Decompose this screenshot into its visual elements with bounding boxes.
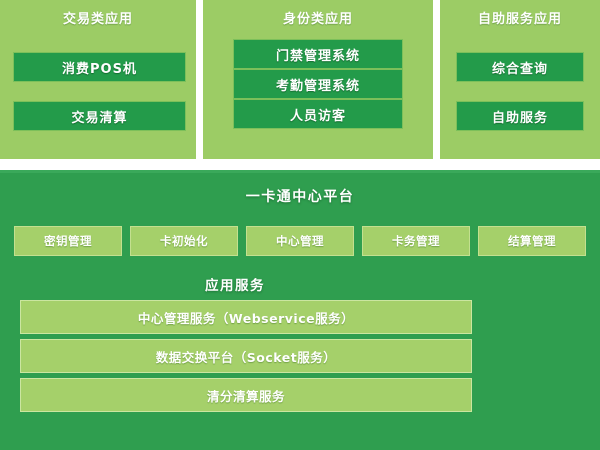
- panel-divider-right: [433, 0, 440, 159]
- application-services-stack: 中心管理服务（Webservice服务） 数据交换平台（Socket服务） 清分…: [20, 300, 472, 417]
- panel-self-service-applications: 自助服务应用 综合查询 自助服务: [440, 0, 600, 159]
- application-services-title: 应用服务: [0, 274, 470, 294]
- panel-title-identity: 身份类应用: [203, 8, 433, 27]
- app-box-attendance-system[interactable]: 考勤管理系统: [233, 69, 403, 99]
- platform-title: 一卡通中心平台: [0, 186, 600, 206]
- panel-identity-applications: 身份类应用 门禁管理系统 考勤管理系统 人员访客: [203, 0, 433, 159]
- service-center-management-webservice[interactable]: 中心管理服务（Webservice服务）: [20, 300, 472, 334]
- app-box-comprehensive-query[interactable]: 综合查询: [456, 52, 584, 82]
- module-card-service-management[interactable]: 卡务管理: [362, 226, 470, 256]
- center-platform-panel: 一卡通中心平台 密钥管理 卡初始化 中心管理 卡务管理 结算管理 应用服务 中心…: [0, 170, 600, 450]
- service-data-exchange-socket[interactable]: 数据交换平台（Socket服务）: [20, 339, 472, 373]
- platform-module-row: 密钥管理 卡初始化 中心管理 卡务管理 结算管理: [10, 226, 590, 256]
- panel-title-self-service: 自助服务应用: [440, 8, 600, 27]
- panel-title-transaction: 交易类应用: [0, 8, 196, 27]
- module-center-management[interactable]: 中心管理: [246, 226, 354, 256]
- app-box-transaction-settlement[interactable]: 交易清算: [13, 101, 186, 131]
- module-card-initialization[interactable]: 卡初始化: [130, 226, 238, 256]
- app-box-self-service[interactable]: 自助服务: [456, 101, 584, 131]
- app-box-visitor-management[interactable]: 人员访客: [233, 99, 403, 129]
- architecture-diagram: 交易类应用 消费POS机 交易清算 身份类应用 门禁管理系统 考勤管理系统 人员…: [0, 0, 600, 450]
- panel-transaction-applications: 交易类应用 消费POS机 交易清算: [0, 0, 196, 159]
- module-key-management[interactable]: 密钥管理: [14, 226, 122, 256]
- service-clearing-settlement[interactable]: 清分清算服务: [20, 378, 472, 412]
- panel-divider-left: [196, 0, 203, 159]
- platform-top-edge: [0, 170, 600, 173]
- app-box-pos-terminal[interactable]: 消费POS机: [13, 52, 186, 82]
- app-box-access-control-system[interactable]: 门禁管理系统: [233, 39, 403, 69]
- module-settlement-management[interactable]: 结算管理: [478, 226, 586, 256]
